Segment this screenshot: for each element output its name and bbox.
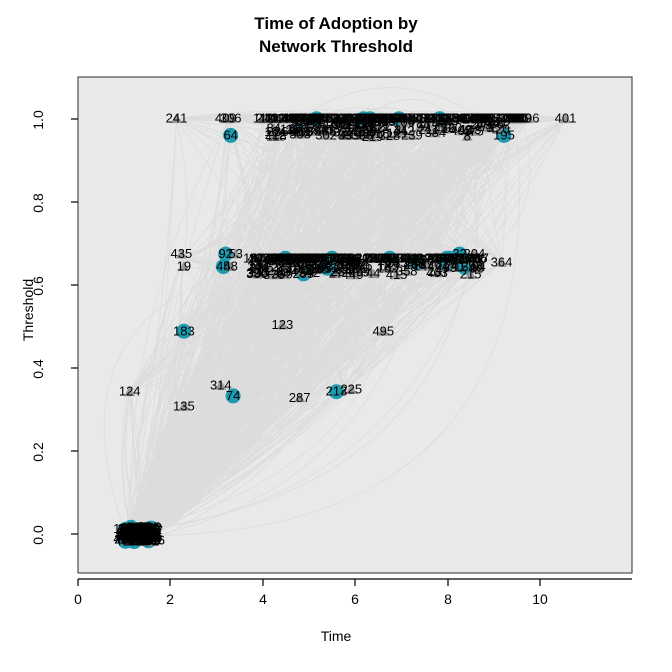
ytick-0-2: 0.2 — [30, 432, 46, 472]
ytick-1-0: 1.0 — [30, 100, 46, 140]
svg-text:358: 358 — [396, 263, 418, 278]
svg-text:242: 242 — [373, 111, 395, 126]
svg-text:19: 19 — [177, 259, 191, 274]
svg-text:30: 30 — [396, 111, 410, 126]
svg-text:382: 382 — [424, 111, 446, 126]
svg-text:48: 48 — [223, 259, 237, 274]
xtick-6: 6 — [335, 591, 375, 607]
ytick-0-8: 0.8 — [30, 183, 46, 223]
svg-text:388: 388 — [124, 525, 146, 540]
svg-text:303: 303 — [289, 124, 311, 139]
svg-text:112: 112 — [253, 111, 274, 126]
svg-text:241: 241 — [166, 111, 188, 126]
svg-text:396: 396 — [351, 258, 373, 273]
svg-text:222: 222 — [265, 127, 287, 142]
svg-text:133: 133 — [446, 111, 468, 126]
svg-text:135: 135 — [173, 398, 195, 413]
svg-text:323: 323 — [316, 111, 338, 126]
svg-text:141: 141 — [248, 265, 270, 280]
svg-text:64: 64 — [223, 127, 237, 142]
svg-text:364: 364 — [491, 255, 513, 270]
svg-text:183: 183 — [173, 323, 195, 338]
xtick-10: 10 — [520, 591, 560, 607]
svg-text:162: 162 — [377, 260, 399, 275]
xtick-4: 4 — [243, 591, 283, 607]
svg-text:190: 190 — [353, 111, 375, 126]
svg-text:77: 77 — [442, 255, 456, 270]
svg-text:219: 219 — [362, 129, 384, 144]
svg-text:414: 414 — [251, 250, 273, 265]
xtick-2: 2 — [150, 591, 190, 607]
svg-text:225: 225 — [340, 382, 362, 397]
svg-text:151: 151 — [304, 250, 326, 265]
svg-text:401: 401 — [555, 111, 577, 126]
y-axis-label: Threshold — [20, 230, 36, 390]
svg-text:123: 123 — [272, 317, 294, 332]
svg-text:124: 124 — [119, 384, 141, 399]
x-axis-label: Time — [0, 628, 672, 644]
svg-text:122: 122 — [292, 111, 314, 126]
plot-canvas: 2413064096435496401195435199253454820432… — [0, 0, 672, 672]
ytick-0-0: 0.0 — [30, 515, 46, 555]
svg-text:74: 74 — [226, 388, 240, 403]
svg-text:287: 287 — [289, 390, 311, 405]
svg-text:409: 409 — [215, 111, 237, 126]
xtick-8: 8 — [428, 591, 468, 607]
svg-text:495: 495 — [372, 323, 394, 338]
xtick-0: 0 — [58, 591, 98, 607]
svg-text:326: 326 — [507, 111, 529, 126]
svg-text:215: 215 — [460, 266, 482, 281]
chart-figure: Time of Adoption by Network Threshold 24… — [0, 0, 672, 672]
